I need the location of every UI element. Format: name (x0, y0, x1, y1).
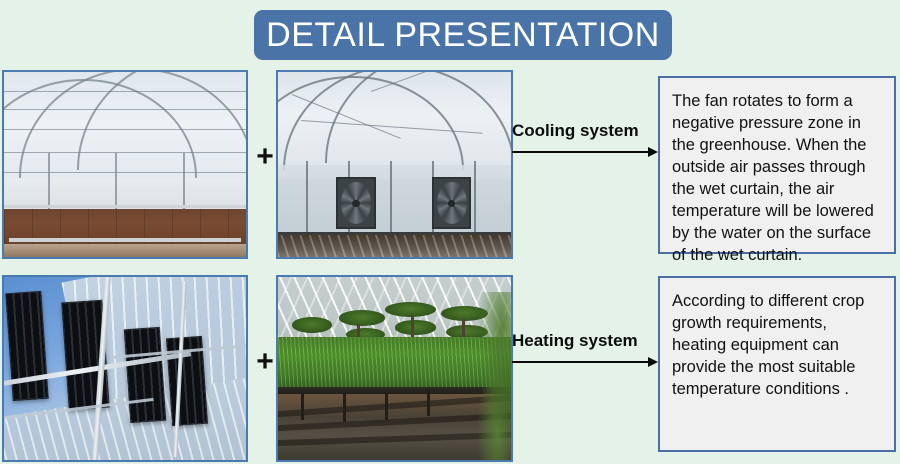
wall-post-3 (183, 153, 185, 212)
topiary-2 (339, 310, 386, 325)
cooling-system-label: Cooling system (512, 120, 662, 142)
wall-mullion-1 (306, 161, 308, 237)
heating-system-connector: Heating system (512, 330, 662, 368)
bench-leg-2 (343, 394, 346, 421)
wet-curtain-photo (2, 70, 248, 259)
arrow-shaft (512, 361, 650, 363)
arrow-shaft (512, 151, 650, 153)
solar-collector-photo-content (4, 277, 246, 460)
page-title: DETAIL PRESENTATION (266, 16, 660, 55)
solar-panel-3 (124, 327, 166, 423)
cooling-system-connector: Cooling system (512, 120, 662, 158)
corrugated-ground (278, 235, 511, 257)
purlin-2 (4, 109, 246, 110)
arrow-head (648, 357, 658, 367)
greenhouse-floor (4, 244, 246, 257)
exhaust-fans-photo (276, 70, 513, 259)
bench-leg-1 (301, 394, 304, 420)
slide-canvas: DETAIL PRESENTATION + (0, 0, 900, 464)
wall-post-1 (48, 153, 50, 212)
bench-leg-4 (427, 390, 430, 416)
seedling-beds-photo (276, 275, 513, 462)
wall-post-2 (115, 153, 117, 212)
exhaust-fans-photo-content (278, 72, 511, 257)
wall-mullion-5 (474, 161, 476, 237)
purlin-3 (4, 129, 246, 130)
cooling-description-panel: The fan rotates to form a negative press… (658, 76, 896, 254)
purlin-4 (4, 152, 246, 153)
bench-leg-3 (385, 392, 388, 419)
topiary-5 (395, 320, 437, 334)
wall-mullion-3 (390, 161, 392, 237)
purlin-5 (4, 172, 246, 173)
wet-curtain-photo-content (4, 72, 246, 257)
seedling-beds-photo-content (278, 277, 511, 460)
heating-description-text: According to different crop growth requi… (672, 290, 884, 400)
heating-arrow-icon (512, 356, 658, 368)
heating-system-label: Heating system (512, 330, 662, 352)
cooling-arrow-icon (512, 146, 658, 158)
purlin-1 (4, 91, 246, 92)
arrow-head (648, 147, 658, 157)
solar-collector-photo (2, 275, 248, 462)
title-banner: DETAIL PRESENTATION (254, 10, 672, 60)
cooling-description-text: The fan rotates to form a negative press… (672, 90, 884, 266)
foreground-foliage (460, 292, 511, 460)
curtain-top-rail (4, 205, 246, 208)
curtain-bottom-rail (9, 238, 241, 242)
exhaust-fan-right (432, 177, 472, 229)
topiary-1 (292, 317, 332, 332)
heating-description-panel: According to different crop growth requi… (658, 276, 896, 452)
end-wall-glazing (278, 165, 511, 239)
exhaust-fan-left (336, 177, 376, 229)
